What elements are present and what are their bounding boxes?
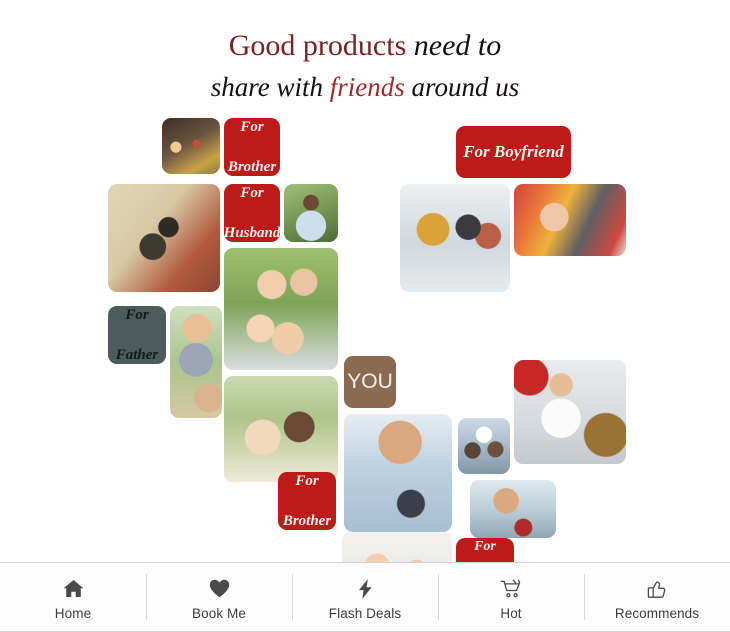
home-icon [61,578,85,600]
nav-item-hot[interactable]: Hot [438,563,584,631]
heart-collage: For Brother For Boyfriend For Husband YO… [0,118,730,548]
lightning-bolt-icon [353,578,377,600]
label-text-line-2: Brother [283,511,331,530]
nav-item-home[interactable]: Home [0,563,146,631]
nav-label-recommends: Recommends [615,606,699,621]
headline-good-products: Good products [229,29,406,62]
photo-man-thinking-tie[interactable] [344,414,452,532]
headline-around-us: around us [412,72,520,102]
photo-couple-kissing[interactable] [458,418,510,474]
label-for-boyfriend[interactable]: For Boyfriend [456,126,571,178]
headline-line-2: share with friends around us [0,68,730,107]
app-root: Good products need to share with friends… [0,0,730,632]
label-text-line-1: For [456,538,514,557]
photo-couple-lying-on-floor[interactable] [108,184,220,292]
photo-businessman-on-phone[interactable] [470,480,556,538]
nav-label-home: Home [55,606,91,621]
headline-need-to: need to [414,29,501,62]
heart-icon [207,578,231,600]
nav-item-recommends[interactable]: Recommends [584,563,730,631]
nav-label-book-me: Book Me [192,606,246,621]
nav-item-book-me[interactable]: Book Me [146,563,292,631]
label-for-brother-bottom[interactable]: For Brother [278,472,336,530]
label-text-line-2: Husband [224,223,280,242]
nav-item-flash-deals[interactable]: Flash Deals [292,563,438,631]
shopping-cart-icon [499,578,523,600]
thumbs-up-icon [645,578,669,600]
headline-line-1: Good products need to [0,24,730,68]
photo-family-of-four-outdoors[interactable] [224,248,338,370]
photo-woman-with-shopping-bags[interactable] [514,184,626,256]
label-you[interactable]: YOU [344,356,396,408]
label-for-father[interactable]: For Father [108,306,166,364]
label-text-line-1: For [116,306,159,325]
photo-girls-shopping-group[interactable] [400,184,510,292]
photo-couple-in-mall-sale[interactable] [514,360,626,464]
page-title: Good products need to share with friends… [0,24,730,107]
label-for-husband[interactable]: For Husband [224,184,280,242]
nav-label-hot: Hot [500,606,521,621]
label-text-line-2: Brother [228,157,276,176]
nav-label-flash-deals: Flash Deals [329,606,401,621]
headline-share-with: share with [211,72,323,102]
photo-couple-with-rose[interactable] [162,118,220,174]
photo-man-outdoors-blue-shirt[interactable] [284,184,338,242]
label-for-brother-top[interactable]: For Brother [224,118,280,176]
label-text-line-1: For [224,184,280,203]
photo-father-and-child[interactable] [170,306,222,418]
label-text-line-1: For [283,472,331,491]
label-text-line-2: Father [116,345,159,364]
headline-friends: friends [330,72,405,102]
label-text: YOU [347,368,393,396]
label-text-line-1: For [228,118,276,137]
label-text: For Boyfriend [463,141,564,164]
bottom-navigation-bar: Home Book Me Flash Deals [0,562,730,632]
photo-two-friends-on-grass[interactable] [224,376,338,482]
